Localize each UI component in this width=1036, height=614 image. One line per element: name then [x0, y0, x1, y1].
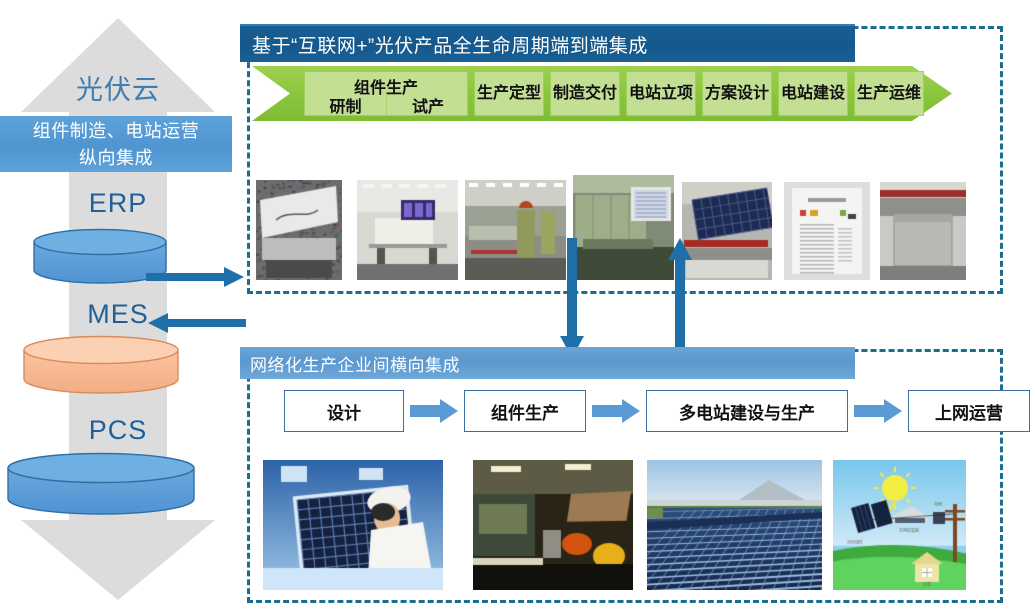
- top-photo-0: [256, 180, 342, 280]
- flow-label-0: 设计: [327, 399, 361, 424]
- panel-link-down-arrow: [560, 238, 586, 360]
- top-photo-4: [682, 182, 772, 280]
- lifecycle-stage-band: 组件生产 研制 试产 生产定型 制造交付 电站立项 方案设计 电站建设 生产运维: [252, 66, 952, 121]
- erp-to-panel-arrow: [146, 264, 246, 290]
- vertical-banner-line-2: 纵向集成: [0, 145, 232, 172]
- panel-link-up-arrow: [668, 238, 694, 360]
- flow-arrow-0: [410, 399, 458, 423]
- stage-cell-3[interactable]: 方案设计: [702, 71, 772, 116]
- vertical-integration-column: 光伏云 组件制造、电站运营 纵向集成 ERP MES PCS: [0, 0, 236, 614]
- flow-box-1[interactable]: 组件生产: [464, 390, 586, 432]
- stage-group-module-production[interactable]: 组件生产 研制 试产: [304, 71, 468, 116]
- stage-cell-5[interactable]: 生产运维: [854, 71, 924, 116]
- bottom-panel-title: 网络化生产企业间横向集成: [240, 347, 855, 379]
- flow-label-2: 多电站建设与生产: [679, 399, 815, 424]
- stage-sub-trial[interactable]: 试产: [387, 94, 469, 116]
- stage-label-2: 电站立项: [629, 84, 693, 103]
- stage-cell-4[interactable]: 电站建设: [778, 71, 848, 116]
- vertical-integration-banner: 组件制造、电站运营 纵向集成: [0, 116, 232, 172]
- pcs-cylinder: [6, 452, 196, 518]
- bottom-photo-3: [833, 460, 966, 590]
- stage-sub-rnd[interactable]: 研制: [305, 94, 387, 116]
- flow-box-2[interactable]: 多电站建设与生产: [646, 390, 848, 432]
- top-photo-6: [880, 182, 966, 280]
- top-photo-2: [465, 180, 566, 280]
- stage-cell-2[interactable]: 电站立项: [626, 71, 696, 116]
- top-photo-1: [357, 180, 458, 280]
- flow-label-1: 组件生产: [491, 399, 559, 424]
- flow-label-3: 上网运营: [935, 399, 1003, 424]
- stage-cells: 组件生产 研制 试产 生产定型 制造交付 电站立项 方案设计 电站建设 生产运维: [252, 66, 952, 121]
- top-panel-title: 基于“互联网+”光伏产品全生命周期端到端集成: [240, 24, 855, 62]
- stage-cell-0[interactable]: 生产定型: [474, 71, 544, 116]
- mes-cylinder: [22, 335, 180, 397]
- stage-label-3: 方案设计: [705, 84, 769, 103]
- panel-to-mes-arrow: [146, 310, 246, 336]
- stage-label-0: 生产定型: [477, 84, 541, 103]
- bottom-photo-1: [473, 460, 633, 590]
- flow-arrow-1: [592, 399, 640, 423]
- stage-label-1: 制造交付: [553, 84, 617, 103]
- bottom-photo-2: [647, 460, 822, 590]
- top-photo-5: [784, 182, 870, 280]
- flow-box-0[interactable]: 设计: [284, 390, 404, 432]
- stage-cell-1[interactable]: 制造交付: [550, 71, 620, 116]
- stage-label-5: 生产运维: [857, 84, 921, 103]
- top-photo-3: [573, 175, 674, 280]
- vertical-banner-line-1: 组件制造、电站运营: [0, 118, 232, 145]
- stage-label-4: 电站建设: [781, 84, 845, 103]
- flow-box-3[interactable]: 上网运营: [908, 390, 1030, 432]
- diagram-canvas: 光伏云 组件制造、电站运营 纵向集成 ERP MES PCS: [0, 0, 1036, 614]
- vertical-arrow-shape: [0, 0, 236, 614]
- bottom-photo-0: [263, 460, 443, 590]
- flow-arrow-2: [854, 399, 902, 423]
